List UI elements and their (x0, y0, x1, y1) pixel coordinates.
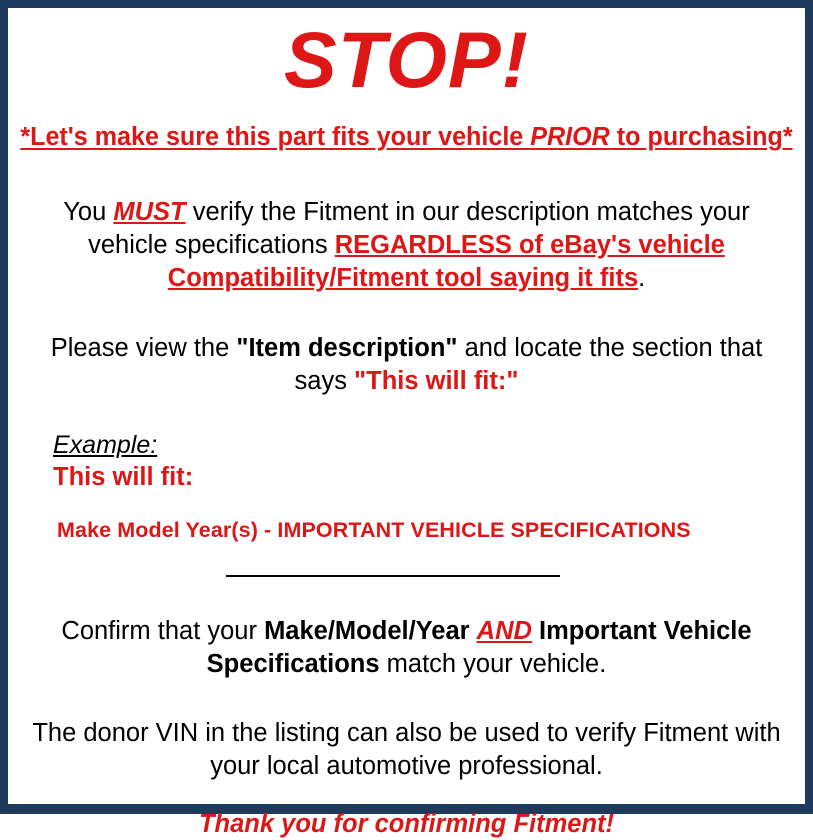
example-label-row: Example: (53, 430, 799, 460)
stop-heading: STOP! (14, 8, 799, 106)
paragraph-must-verify: You MUST verify the Fitment in our descr… (14, 152, 799, 295)
must-part1: You (63, 198, 113, 226)
example-fit-header: This will fit: (53, 460, 799, 493)
tagline-lead: *Let's make sure this part fits your veh… (20, 123, 530, 151)
example-label: Example: (53, 430, 157, 460)
confirm-space-1 (470, 617, 477, 645)
item-description-label: "Item description" (236, 334, 457, 362)
fitment-notice-panel: STOP! *Let's make sure this part fits yo… (0, 0, 813, 814)
section-divider (226, 575, 560, 577)
make-model-year-label: Make/Model/Year (264, 617, 470, 645)
tagline: *Let's make sure this part fits your veh… (20, 106, 793, 152)
this-will-fit-quote: "This will fit:" (354, 367, 518, 395)
confirm-part2: match your vehicle. (380, 650, 607, 678)
must-part3: . (638, 264, 645, 292)
paragraph-confirm: Confirm that your Make/Model/Year AND Im… (14, 585, 799, 681)
please-part1: Please view the (51, 334, 237, 362)
example-spec-line: Make Model Year(s) - IMPORTANT VEHICLE S… (53, 493, 799, 543)
confirm-part1: Confirm that your (61, 617, 264, 645)
example-block: Example: This will fit: Make Model Year(… (14, 398, 799, 543)
confirm-space-2 (532, 617, 539, 645)
notice-content: STOP! *Let's make sure this part fits yo… (8, 8, 805, 804)
divider-wrap (14, 543, 799, 585)
thank-you-line: Thank you for confirming Fitment! (14, 783, 799, 840)
and-emphasis: AND (477, 617, 532, 645)
tagline-tail: to purchasing* (610, 123, 793, 151)
tagline-emphasis-prior: PRIOR (530, 123, 610, 151)
paragraph-please-view: Please view the "Item description" and l… (14, 295, 799, 398)
paragraph-donor-vin: The donor VIN in the listing can also be… (14, 681, 799, 783)
must-emphasis: MUST (113, 198, 185, 226)
